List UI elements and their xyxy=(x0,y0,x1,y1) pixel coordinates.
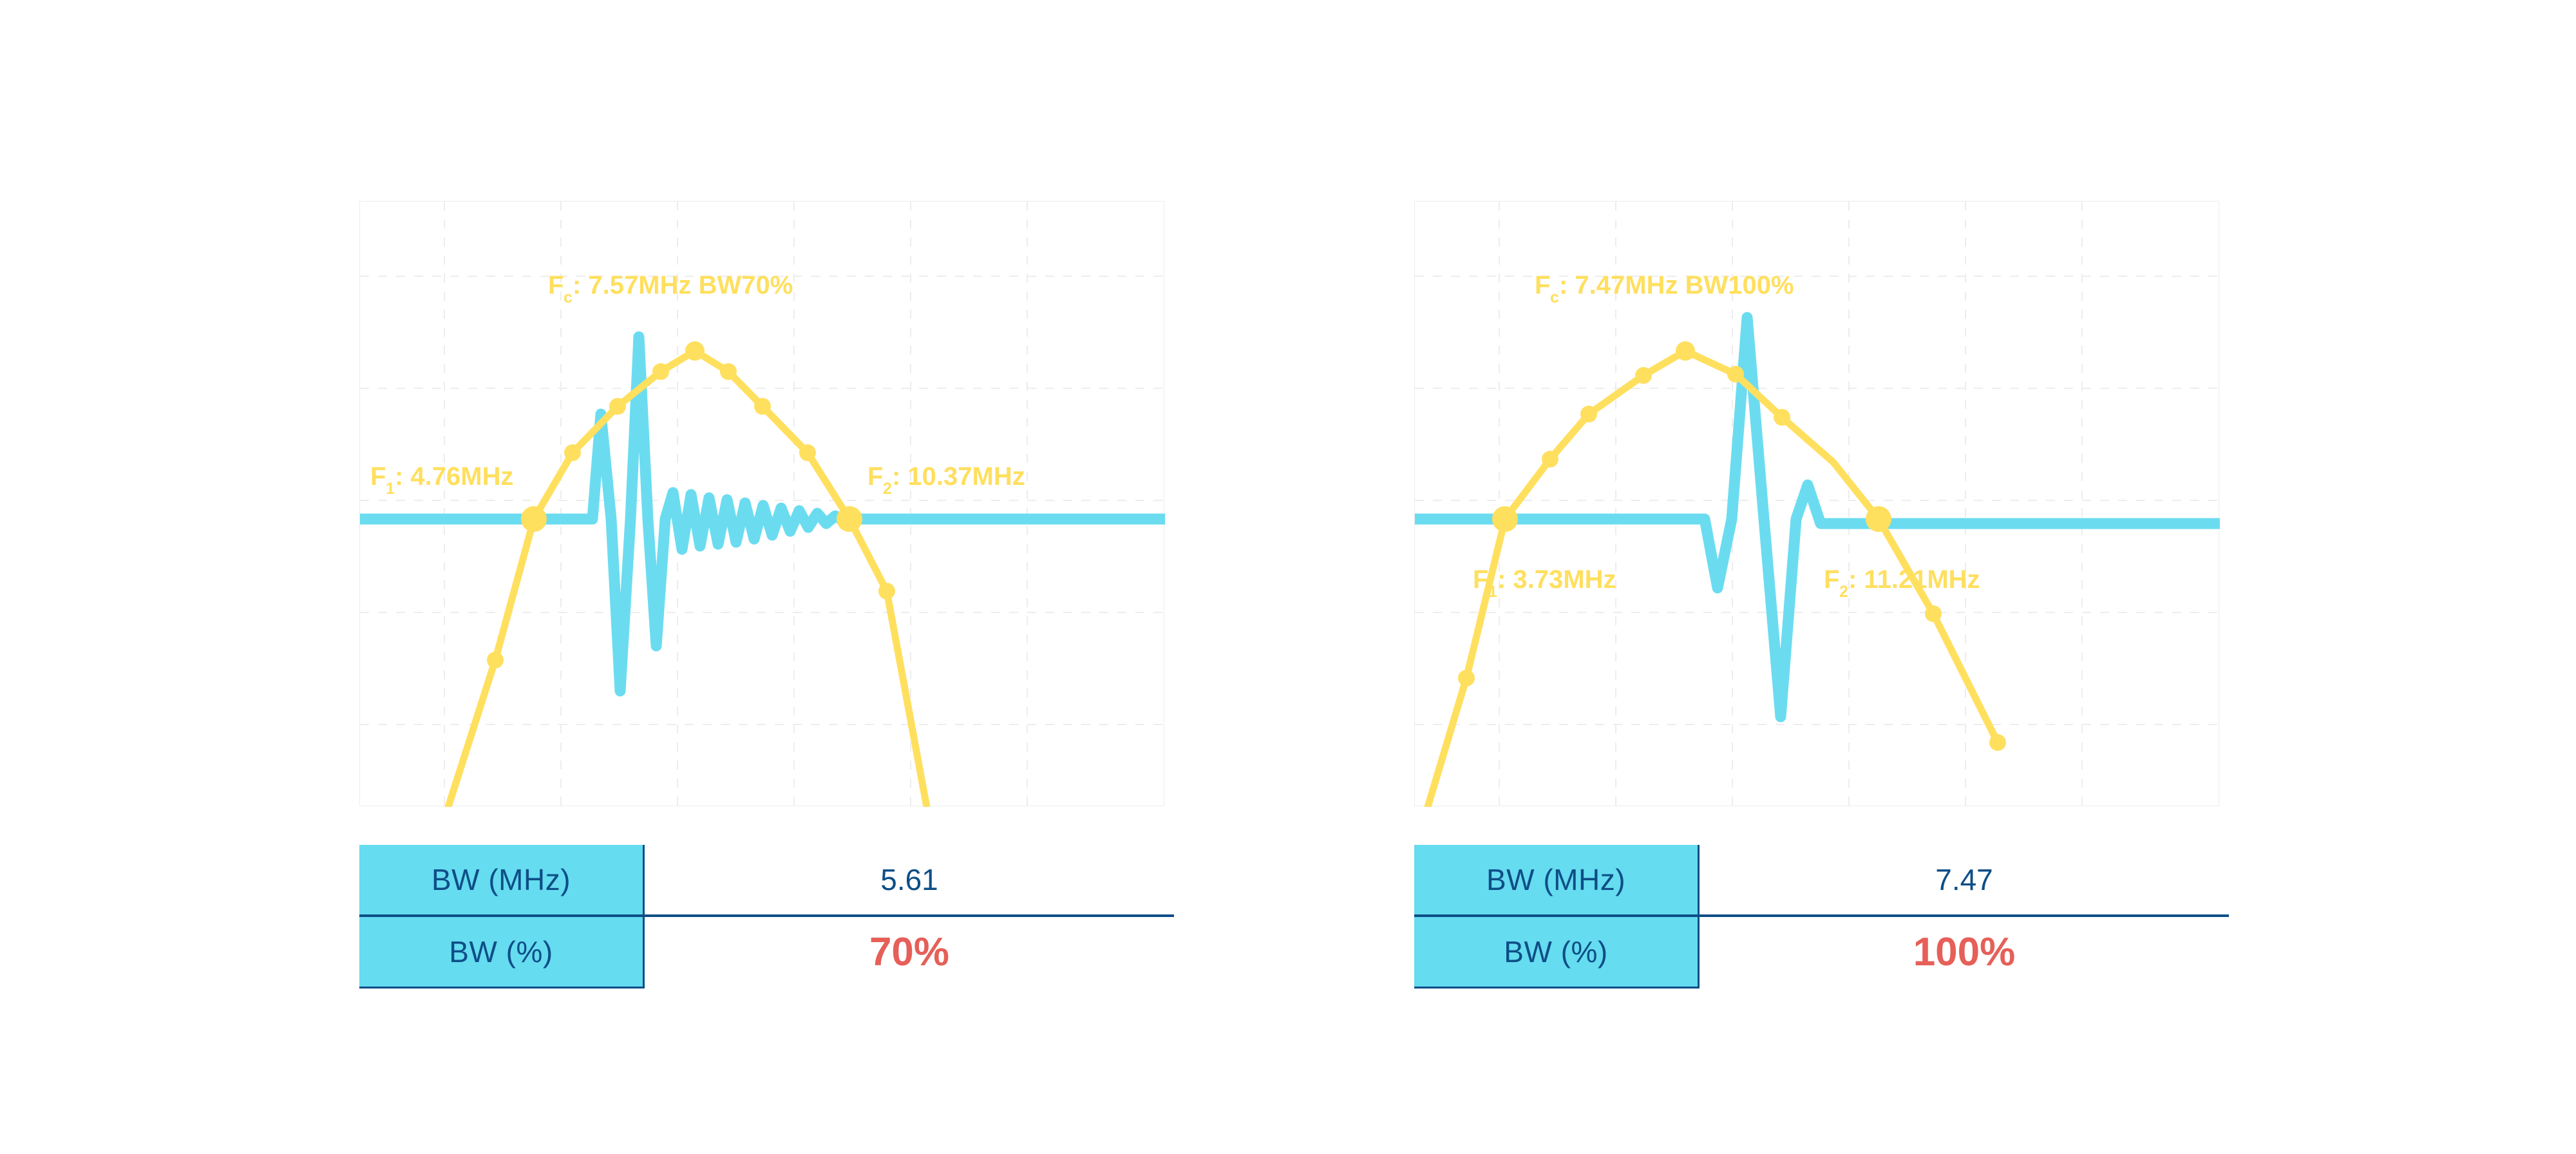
bw-mhz-value-bw100: 7.47 xyxy=(1699,845,2230,916)
annotation-fc-f-bw100: F xyxy=(1535,271,1550,299)
marker-f1-bw100 xyxy=(1492,506,1518,532)
panel-bw100: F c : 7.47MHz BW100% F 1 : 3.73MHz F 2 :… xyxy=(1414,201,2219,806)
annotation-f1-sub-bw70: 1 xyxy=(386,480,395,498)
table-row: BW (%) 100% xyxy=(1414,916,2229,988)
spectrum-curve-bw70 xyxy=(448,351,927,807)
annotation-fc-f-bw70: F xyxy=(548,271,563,299)
bw-mhz-header-bw100: BW (MHz) xyxy=(1414,845,1699,916)
annotation-f2-f-bw70: F xyxy=(867,462,883,491)
annotation-fc-value-bw70: : 7.57MHz BW70% xyxy=(573,271,793,299)
chart-frame-bw70: F c : 7.57MHz BW70% F 1 : 4.76MHz F 2 : … xyxy=(359,201,1164,806)
table-row: BW (%) 70% xyxy=(359,916,1174,988)
annotation-f1-value-bw70: : 4.76MHz xyxy=(395,462,514,491)
bw-table-bw100: BW (MHz) 7.47 BW (%) 100% xyxy=(1414,845,2229,988)
annotation-f2-sub-bw100: 2 xyxy=(1839,583,1848,601)
annotation-f1-value-bw100: : 3.73MHz xyxy=(1497,565,1616,594)
annotation-f1-sub-bw100: 1 xyxy=(1488,583,1497,601)
annotation-fc-value-bw100: : 7.47MHz BW100% xyxy=(1559,271,1794,299)
bw-percent-header-bw70: BW (%) xyxy=(359,916,644,988)
annotation-f2-sub-bw70: 2 xyxy=(883,480,892,498)
bw-percent-value-bw70: 70% xyxy=(644,916,1175,988)
annotation-fc-bw70: F c : 7.57MHz BW70% xyxy=(548,271,793,307)
annotation-f2-bw70: F 2 : 10.37MHz xyxy=(867,462,1025,498)
annotation-f1-bw70: F 1 : 4.76MHz xyxy=(370,462,514,498)
panel-bw70: F c : 7.57MHz BW70% F 1 : 4.76MHz F 2 : … xyxy=(359,201,1164,806)
annotation-f2-value-bw70: : 10.37MHz xyxy=(892,462,1025,491)
figure-root: F c : 7.57MHz BW70% F 1 : 4.76MHz F 2 : … xyxy=(0,0,2576,1154)
annotation-f2-value-bw100: : 11.21MHz xyxy=(1848,565,1980,594)
annotation-fc-bw100: F c : 7.47MHz BW100% xyxy=(1535,271,1794,307)
spectrum-pulse-chart-bw100: F c : 7.47MHz BW100% F 1 : 3.73MHz F 2 :… xyxy=(1415,202,2220,807)
marker-f2-bw100 xyxy=(1866,506,1891,532)
annotation-fc-sub-bw70: c xyxy=(563,288,573,307)
annotation-f1-f-bw70: F xyxy=(370,462,386,491)
marker-f2-bw70 xyxy=(837,506,862,532)
spectrum-pulse-chart-bw70: F c : 7.57MHz BW70% F 1 : 4.76MHz F 2 : … xyxy=(360,202,1165,807)
bw-mhz-value-bw70: 5.61 xyxy=(644,845,1175,916)
table-row: BW (MHz) 5.61 xyxy=(359,845,1174,916)
pulse-waveform-bw100 xyxy=(1415,317,2220,717)
table-row: BW (MHz) 7.47 xyxy=(1414,845,2229,916)
bw-percent-header-bw100: BW (%) xyxy=(1414,916,1699,988)
bw-mhz-header-bw70: BW (MHz) xyxy=(359,845,644,916)
bw-percent-value-bw100: 100% xyxy=(1699,916,2230,988)
pulse-waveform-bw70 xyxy=(360,337,1165,691)
annotation-f2-bw100: F 2 : 11.21MHz xyxy=(1824,565,1980,601)
chart-frame-bw100: F c : 7.47MHz BW100% F 1 : 3.73MHz F 2 :… xyxy=(1414,201,2219,806)
bw-table-bw70: BW (MHz) 5.61 BW (%) 70% xyxy=(359,845,1174,988)
annotation-fc-sub-bw100: c xyxy=(1550,288,1559,307)
marker-f1-bw70 xyxy=(521,506,547,532)
annotation-f2-f-bw100: F xyxy=(1824,565,1839,594)
annotation-f1-f-bw100: F xyxy=(1473,565,1488,594)
